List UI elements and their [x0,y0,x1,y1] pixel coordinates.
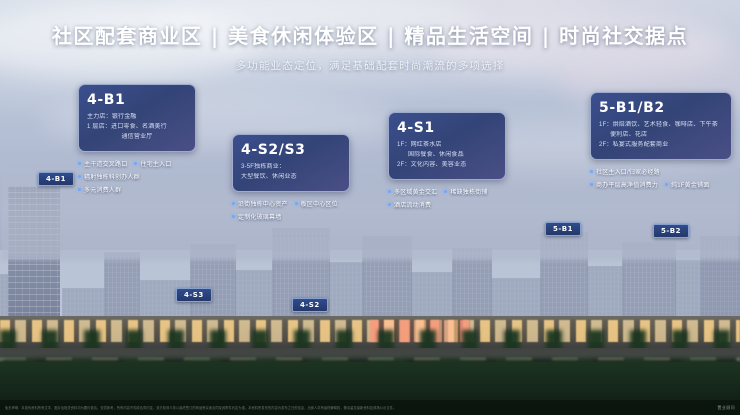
footer-mark: 置业顾问 [717,405,735,411]
card-detail-line: 大型餐饮、休闲业态 [241,173,341,183]
bullet-label: 酒店流动消费 [394,200,431,209]
card-title: 4-B1 [87,92,187,108]
card-detail-line: 2F：文化内容、美容业态 [397,161,497,171]
bullet-label: 多元消费人群 [84,185,121,194]
bullet-label: 多区域黄金交汇 [394,187,437,196]
card-panel: 4-S2/S3 3-5F独栋商业： 大型餐饮、休闲业态 [232,134,350,192]
building-tag-4-s2[interactable]: 4-S2 [292,298,328,312]
bullet-item: 社区主入口/归家必经路 [590,167,660,176]
bullet-label: 板区中心区位 [301,199,338,208]
brochure-slide: 社区配套商业区 | 美食休闲体验区 | 精品生活空间 | 时尚社交据点 多功能业… [0,0,740,415]
card-panel: 4-B1 主力店：银行金融 1 层店：进口零食、名酒美行 通信营业厅 [78,84,196,152]
bullet-item: 纯1F黄金铺面 [665,180,709,189]
bullet-dot-icon [590,183,593,186]
bullet-dot-icon [232,215,235,218]
bullet-item: 辐射独栋科创办人群 [78,172,140,181]
bullet-item: 定制化玻璃幕墙 [232,212,281,221]
card-detail-line: 1F：网红茶水店 [397,141,497,151]
bullet-dot-icon [78,188,81,191]
bullet-label: 沿街独栋中心资产 [238,199,288,208]
info-card-4-s2-s3[interactable]: 4-S2/S3 3-5F独栋商业： 大型餐饮、休闲业态 沿街独栋中心资产 板区中… [232,134,350,225]
info-card-5-b1-b2[interactable]: 5-B1/B2 1F：烘焙酒饮、艺术轻食、咖啡店、下午茶 便利店、花店 2F：私… [590,92,732,193]
card-detail-line: 2F：私宴式服务配套商业 [599,141,723,151]
bullet-dot-icon [78,162,81,165]
bullet-item: 多区域黄金交汇 [388,187,437,196]
card-bullet-list: 多区域黄金交汇 稀缺独栋街铺 酒店流动消费 [388,187,506,213]
card-detail-line: 通信营业厅 [87,133,187,143]
card-bullet-list: 沿街独栋中心资产 板区中心区位 定制化玻璃幕墙 [232,199,350,225]
bullet-dot-icon [295,202,298,205]
bullet-item: 稀缺独栋街铺 [444,187,487,196]
bullet-label: 辐射独栋科创办人群 [84,172,140,181]
bullet-label: 社区主入口/归家必经路 [596,167,660,176]
bullet-label: 主干道交叉路口 [84,159,127,168]
building-tag-4-s3[interactable]: 4-S3 [176,288,212,302]
bullet-dot-icon [388,190,391,193]
bullet-dot-icon [232,202,235,205]
card-detail-line: 3-5F独栋商业： [241,163,341,173]
header-block: 社区配套商业区 | 美食休闲体验区 | 精品生活空间 | 时尚社交据点 多功能业… [0,0,740,73]
bullet-dot-icon [665,183,668,186]
bullet-label: 纯1F黄金铺面 [671,180,709,189]
bullet-item: 酒店流动消费 [388,200,431,209]
card-detail-line: 1F：烘焙酒饮、艺术轻食、咖啡店、下午茶 [599,121,723,131]
card-detail-line: 国际餐食、休闲食品 [397,151,497,161]
building-tag-5-b1[interactable]: 5-B1 [545,222,581,236]
bullet-item: 沿街独栋中心资产 [232,199,288,208]
bullet-dot-icon [78,175,81,178]
card-title: 4-S2/S3 [241,142,341,158]
card-panel: 4-S1 1F：网红茶水店 国际餐食、休闲食品 2F：文化内容、美容业态 [388,112,506,180]
card-bullet-list: 社区主入口/归家必经路 商办平层高净值消费力 纯1F黄金铺面 [590,167,732,193]
page-title: 社区配套商业区 | 美食休闲体验区 | 精品生活空间 | 时尚社交据点 [0,20,740,49]
card-detail-line: 主力店：银行金融 [87,113,187,123]
disclaimer-text: 免责声明：本宣传资料所有文字、图片及相关资料均为要约邀请，仅供参考，所有内容不构… [5,405,713,410]
bullet-label: 住宅主入口 [140,159,171,168]
bullet-dot-icon [388,203,391,206]
bullet-label: 定制化玻璃幕墙 [238,212,281,221]
bullet-item: 商办平层高净值消费力 [590,180,658,189]
building-tag-5-b2[interactable]: 5-B2 [653,224,689,238]
bullet-item: 主干道交叉路口 [78,159,127,168]
card-bullet-list: 主干道交叉路口 住宅主入口 辐射独栋科创办人群 多元消费人群 [78,159,196,198]
bullet-item: 多元消费人群 [78,185,121,194]
card-title: 4-S1 [397,120,497,136]
bullet-label: 商办平层高净值消费力 [596,180,658,189]
bullet-dot-icon [590,170,593,173]
building-tag-4-b1[interactable]: 4-B1 [38,172,74,186]
bullet-item: 住宅主入口 [134,159,171,168]
bullet-dot-icon [134,162,137,165]
card-detail-line: 便利店、花店 [599,131,723,141]
bullet-item: 板区中心区位 [295,199,338,208]
card-panel: 5-B1/B2 1F：烘焙酒饮、艺术轻食、咖啡店、下午茶 便利店、花店 2F：私… [590,92,732,160]
bullet-dot-icon [444,190,447,193]
footer-disclaimer-bar: 免责声明：本宣传资料所有文字、图片及相关资料均为要约邀请，仅供参考，所有内容不构… [0,400,740,415]
info-card-4-s1[interactable]: 4-S1 1F：网红茶水店 国际餐食、休闲食品 2F：文化内容、美容业态 多区域… [388,112,506,213]
card-title: 5-B1/B2 [599,100,723,116]
info-card-4-b1[interactable]: 4-B1 主力店：银行金融 1 层店：进口零食、名酒美行 通信营业厅 主干道交叉… [78,84,196,198]
page-subtitle: 多功能业态定位，满足基础配套时尚潮流的多项选择 [0,58,740,73]
card-detail-line: 1 层店：进口零食、名酒美行 [87,123,187,133]
bullet-label: 稀缺独栋街铺 [450,187,487,196]
